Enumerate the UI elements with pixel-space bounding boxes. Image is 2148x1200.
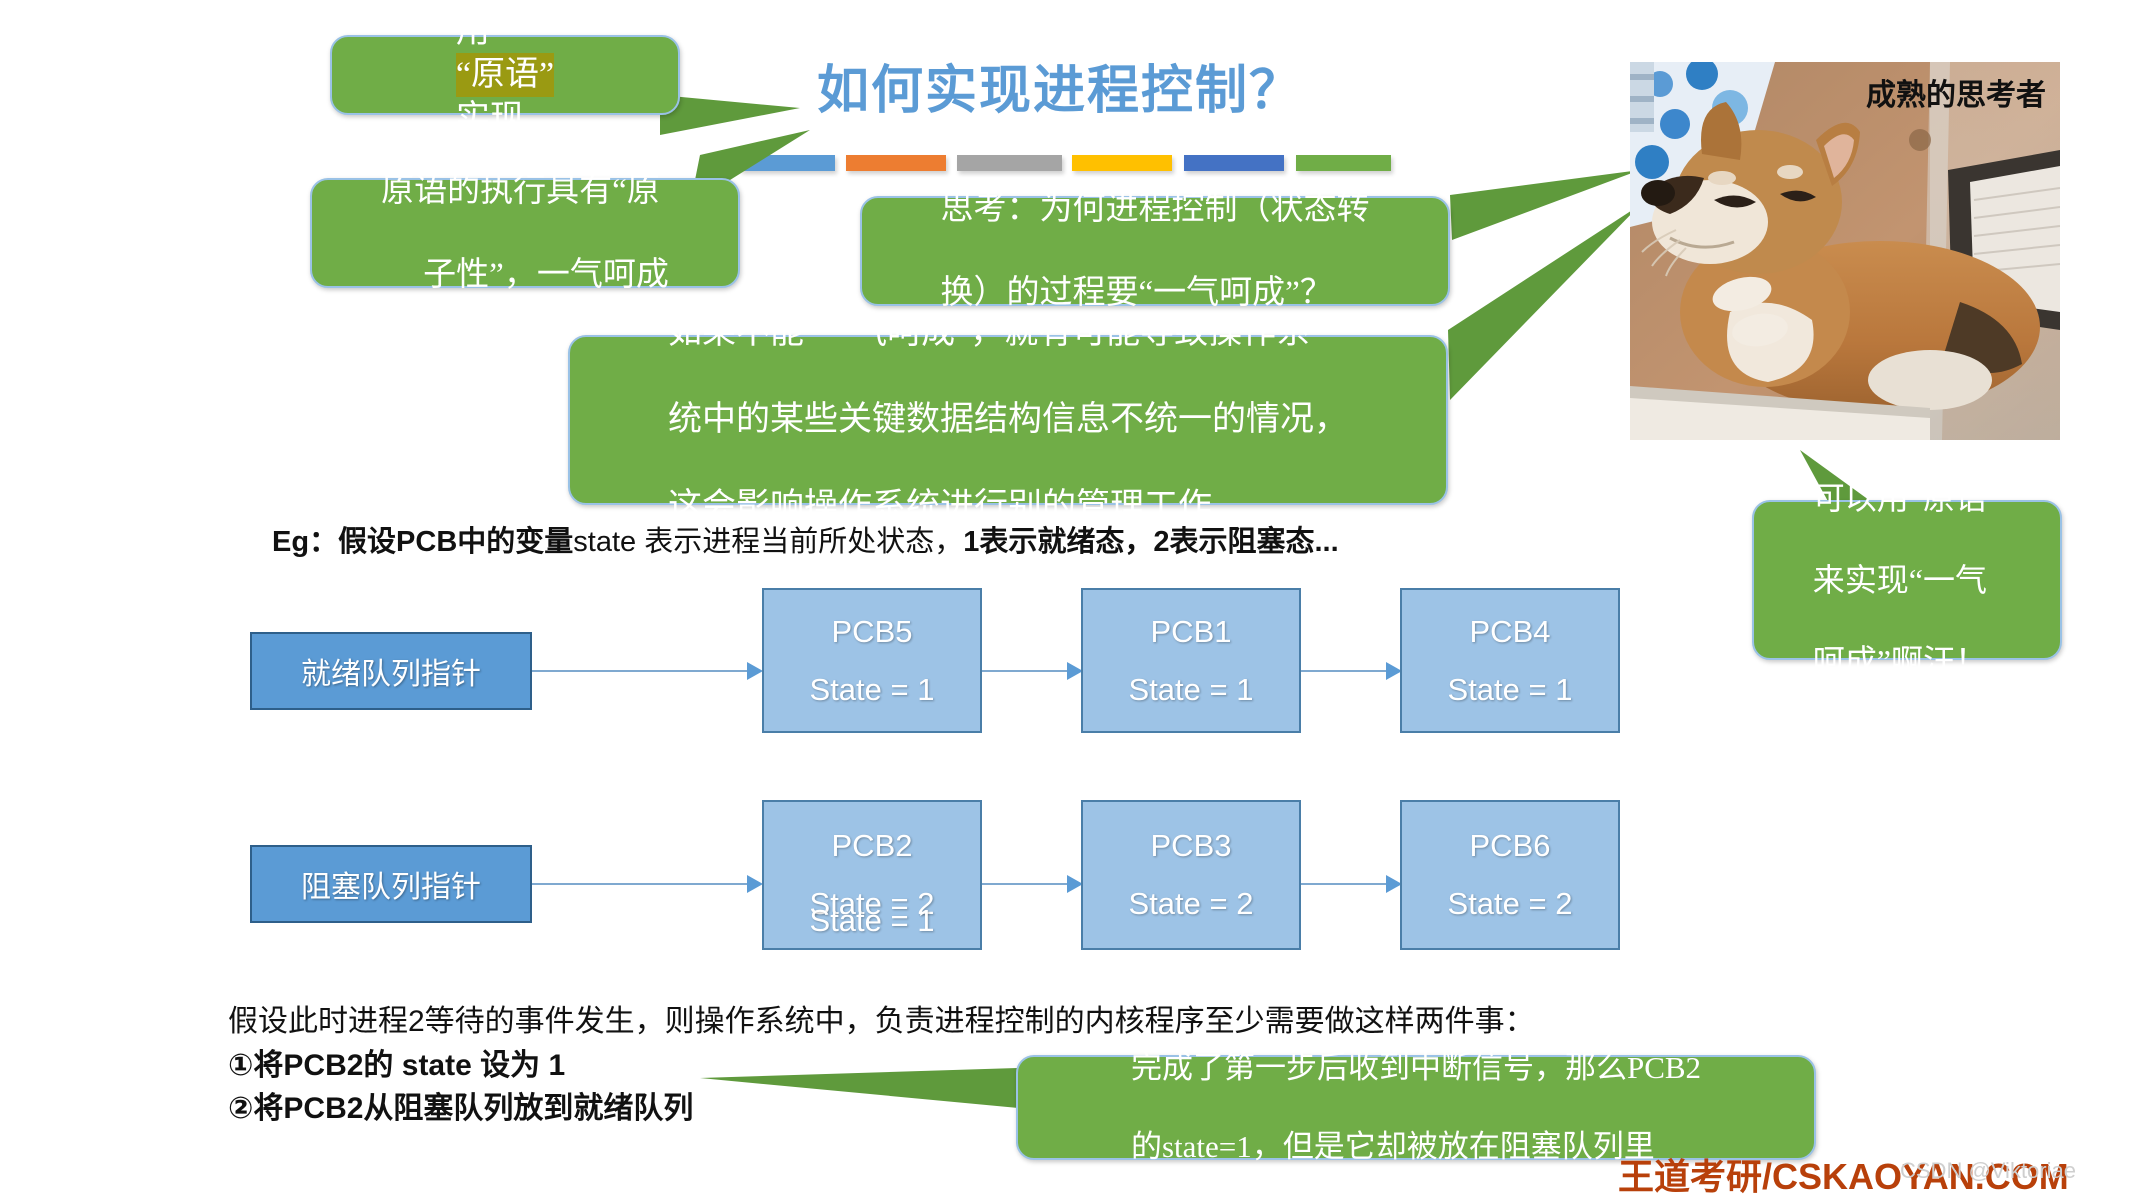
example-line-thin: state 表示进程当前所处状态，: [573, 526, 963, 558]
bottom-text-line2: ①将PCB2的 state 设为 1: [228, 1044, 1535, 1088]
pcb-node-pcb2-state-overlay: State = 1: [810, 903, 935, 939]
callout-primitive-before: 用: [456, 10, 554, 54]
slide-canvas: 如何实现进程控制？ 用 “原语” 实现 原语的执行具有“原 子性”，一气呵成: [0, 0, 2148, 1200]
callout-primitive-after: 实现: [456, 97, 554, 141]
ready-queue-pointer[interactable]: 就绪队列指针: [250, 632, 532, 710]
callout-question-line1: 思考：为何进程控制（状态转: [941, 188, 1370, 230]
dog-photo-image: [1630, 62, 2060, 440]
bottom-text-line1: 假设此时进程2等待的事件发生，则操作系统中，负责进程控制的内核程序至少需要做这样…: [228, 1000, 1535, 1044]
callout-dog-says-line1: 可以用“原语”: [1813, 478, 2001, 519]
dog-photo-caption: 成熟的思考者: [1866, 70, 2046, 114]
callout-atomicity-line1: 原语的执行具有“原: [381, 170, 669, 212]
callout-atomicity[interactable]: 原语的执行具有“原 子性”，一气呵成: [310, 178, 740, 288]
blocked-queue-pointer-label: 阻塞队列指针: [301, 862, 481, 906]
pcb-node-pcb3[interactable]: PCB3 State = 2: [1081, 800, 1301, 950]
callout-question[interactable]: 思考：为何进程控制（状态转 换）的过程要“一气呵成”？: [860, 196, 1450, 306]
callout-interrupt-line2: 的state=1，但是它却被放在阻塞队列里: [1131, 1127, 1701, 1167]
page-title: 如何实现进程控制？: [780, 48, 1340, 123]
callout-consequence-line2: 统中的某些关键数据结构信息不统一的情况，: [668, 398, 1348, 442]
example-line-tail: 1表示就绪态，2表示阻塞态...: [963, 526, 1338, 558]
callout-dog-says-line2: 来实现“一气: [1813, 560, 2001, 601]
callout-dog-says-line3: 呵成”啊汪！: [1813, 641, 2001, 682]
pcb-node-pcb1[interactable]: PCB1 State = 1: [1081, 588, 1301, 733]
color-bar-navy: [1184, 155, 1284, 171]
color-bar-gray: [957, 155, 1062, 171]
callout-consequence-line1: 如果不能“一气呵成”，就有可能导致操作系: [668, 311, 1348, 355]
connector-ready-0: [532, 670, 747, 672]
color-bar-blue: [740, 155, 835, 171]
callout-consequence-text: 如果不能“一气呵成”，就有可能导致操作系 统中的某些关键数据结构信息不统一的情况…: [668, 311, 1348, 529]
callout-dog-says-text: 可以用“原语” 来实现“一气 呵成”啊汪！: [1813, 478, 2001, 683]
color-bar-strip: [740, 155, 1390, 173]
callout-dog-says[interactable]: 可以用“原语” 来实现“一气 呵成”啊汪！: [1752, 500, 2062, 660]
callout-consequence[interactable]: 如果不能“一气呵成”，就有可能导致操作系 统中的某些关键数据结构信息不统一的情况…: [568, 335, 1448, 505]
bottom-text: 假设此时进程2等待的事件发生，则操作系统中，负责进程控制的内核程序至少需要做这样…: [228, 1000, 1535, 1131]
pcb-node-pcb6-state: State = 2: [1448, 886, 1573, 922]
pcb-node-pcb2-name: PCB2: [832, 828, 913, 864]
callout-primitive-highlight: “原语”: [456, 53, 554, 97]
pcb-node-pcb4[interactable]: PCB4 State = 1: [1400, 588, 1620, 733]
example-line: Eg：假设PCB中的变量state 表示进程当前所处状态，1表示就绪态，2表示阻…: [272, 518, 1339, 560]
arrowhead-blocked-0: [747, 875, 763, 893]
pcb-node-pcb2[interactable]: PCB2 State = 2State = 1: [762, 800, 982, 950]
color-bar-gold: [1072, 155, 1172, 171]
pcb-node-pcb2-state: State = 2State = 1: [810, 886, 935, 922]
arrowhead-ready-0: [747, 662, 763, 680]
callout-question-text: 思考：为何进程控制（状态转 换）的过程要“一气呵成”？: [941, 188, 1370, 315]
blocked-queue-pointer[interactable]: 阻塞队列指针: [250, 845, 532, 923]
connector-blocked-1: [982, 883, 1067, 885]
pcb-node-pcb5-state: State = 1: [810, 672, 935, 708]
callout-atomicity-line2: 子性”，一气呵成: [423, 254, 669, 296]
connector-blocked-2: [1301, 883, 1386, 885]
pcb-node-pcb5-name: PCB5: [832, 614, 913, 650]
pcb-node-pcb6[interactable]: PCB6 State = 2: [1400, 800, 1620, 950]
pcb-node-pcb1-name: PCB1: [1151, 614, 1232, 650]
bottom-text-line3: ②将PCB2从阻塞队列放到就绪队列: [228, 1087, 1535, 1131]
pcb-node-pcb4-name: PCB4: [1470, 614, 1551, 650]
ready-queue-pointer-label: 就绪队列指针: [301, 649, 481, 693]
color-bar-green: [1296, 155, 1391, 171]
connector-ready-1: [982, 670, 1067, 672]
pcb-node-pcb1-state: State = 1: [1129, 672, 1254, 708]
pcb-node-pcb4-state: State = 1: [1448, 672, 1573, 708]
color-bar-orange: [846, 155, 946, 171]
example-line-bold: Eg：假设PCB中的变量: [272, 526, 573, 558]
callout-primitive[interactable]: 用 “原语” 实现: [330, 35, 680, 115]
pcb-node-pcb3-name: PCB3: [1151, 828, 1232, 864]
connector-ready-2: [1301, 670, 1386, 672]
connector-blocked-0: [532, 883, 747, 885]
dog-photo: 成熟的思考者: [1630, 62, 2060, 440]
callout-atomicity-text: 原语的执行具有“原 子性”，一气呵成: [381, 170, 669, 297]
pcb-node-pcb5[interactable]: PCB5 State = 1: [762, 588, 982, 733]
pcb-node-pcb6-name: PCB6: [1470, 828, 1551, 864]
pcb-node-pcb3-state: State = 2: [1129, 886, 1254, 922]
watermark-csdn: CSDN @Viktoriae: [1900, 1158, 2076, 1184]
callout-primitive-text: 用 “原语” 实现: [456, 10, 554, 141]
callout-question-line2: 换）的过程要“一气呵成”？: [941, 272, 1370, 314]
